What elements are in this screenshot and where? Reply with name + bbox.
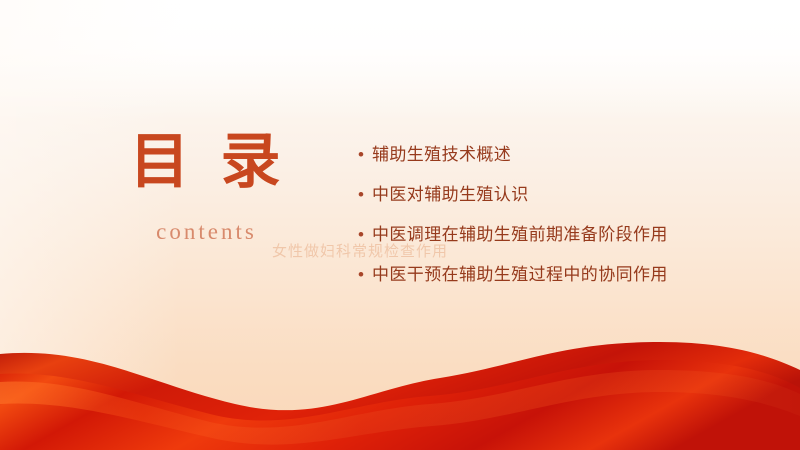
page-subtitle: contents bbox=[60, 219, 350, 245]
bullet-icon: • bbox=[358, 179, 372, 210]
list-item[interactable]: • 中医干预在辅助生殖过程中的协同作用 bbox=[358, 259, 730, 290]
bullet-icon: • bbox=[358, 139, 372, 170]
list-item-label: 中医调理在辅助生殖前期准备阶段作用 bbox=[372, 219, 730, 250]
list-item[interactable]: • 中医对辅助生殖认识 bbox=[358, 179, 730, 210]
page-title: 目 录 bbox=[60, 128, 350, 197]
table-of-contents-list: • 辅助生殖技术概述 • 中医对辅助生殖认识 • 中医调理在辅助生殖前期准备阶段… bbox=[358, 139, 730, 299]
list-item-label: 中医对辅助生殖认识 bbox=[372, 179, 730, 210]
list-item-label: 中医干预在辅助生殖过程中的协同作用 bbox=[372, 259, 730, 290]
bullet-icon: • bbox=[358, 219, 372, 250]
list-item-label: 辅助生殖技术概述 bbox=[372, 139, 730, 170]
decorative-red-ribbon bbox=[0, 330, 800, 450]
list-item[interactable]: • 辅助生殖技术概述 bbox=[358, 139, 730, 170]
list-item[interactable]: • 中医调理在辅助生殖前期准备阶段作用 bbox=[358, 219, 730, 250]
bullet-icon: • bbox=[358, 259, 372, 290]
red-wave-svg bbox=[0, 330, 800, 450]
title-block: 目 录 contents bbox=[60, 128, 350, 245]
slide-canvas: 目 录 contents • 辅助生殖技术概述 • 中医对辅助生殖认识 • 中医… bbox=[0, 0, 800, 450]
top-background-glow bbox=[0, 0, 800, 120]
